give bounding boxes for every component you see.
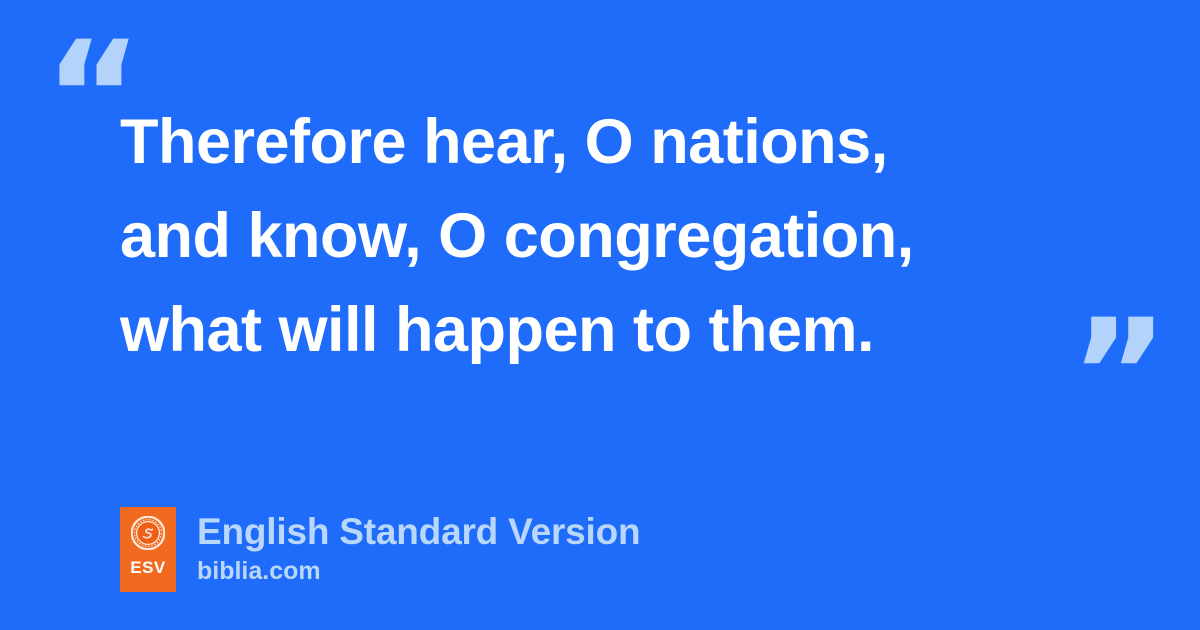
translation-name: English Standard Version — [197, 510, 640, 554]
attribution-footer: ESV English Standard Version biblia.com — [120, 507, 640, 592]
esv-seal-icon — [131, 516, 165, 550]
verse-text-block: Therefore hear, O nations, and know, O c… — [120, 95, 1130, 377]
close-quote-icon: ” — [1070, 300, 1167, 450]
verse-line: Therefore hear, O nations, — [120, 95, 1130, 189]
esv-logo-abbreviation: ESV — [130, 559, 166, 576]
verse-line: what will happen to them. — [120, 283, 1130, 377]
attribution-text-block: English Standard Version biblia.com — [197, 507, 640, 586]
verse-share-card: “ Therefore hear, O nations, and know, O… — [0, 0, 1200, 630]
verse-line: and know, O congregation, — [120, 189, 1130, 283]
esv-logo-badge: ESV — [120, 507, 176, 592]
site-url: biblia.com — [197, 556, 640, 586]
